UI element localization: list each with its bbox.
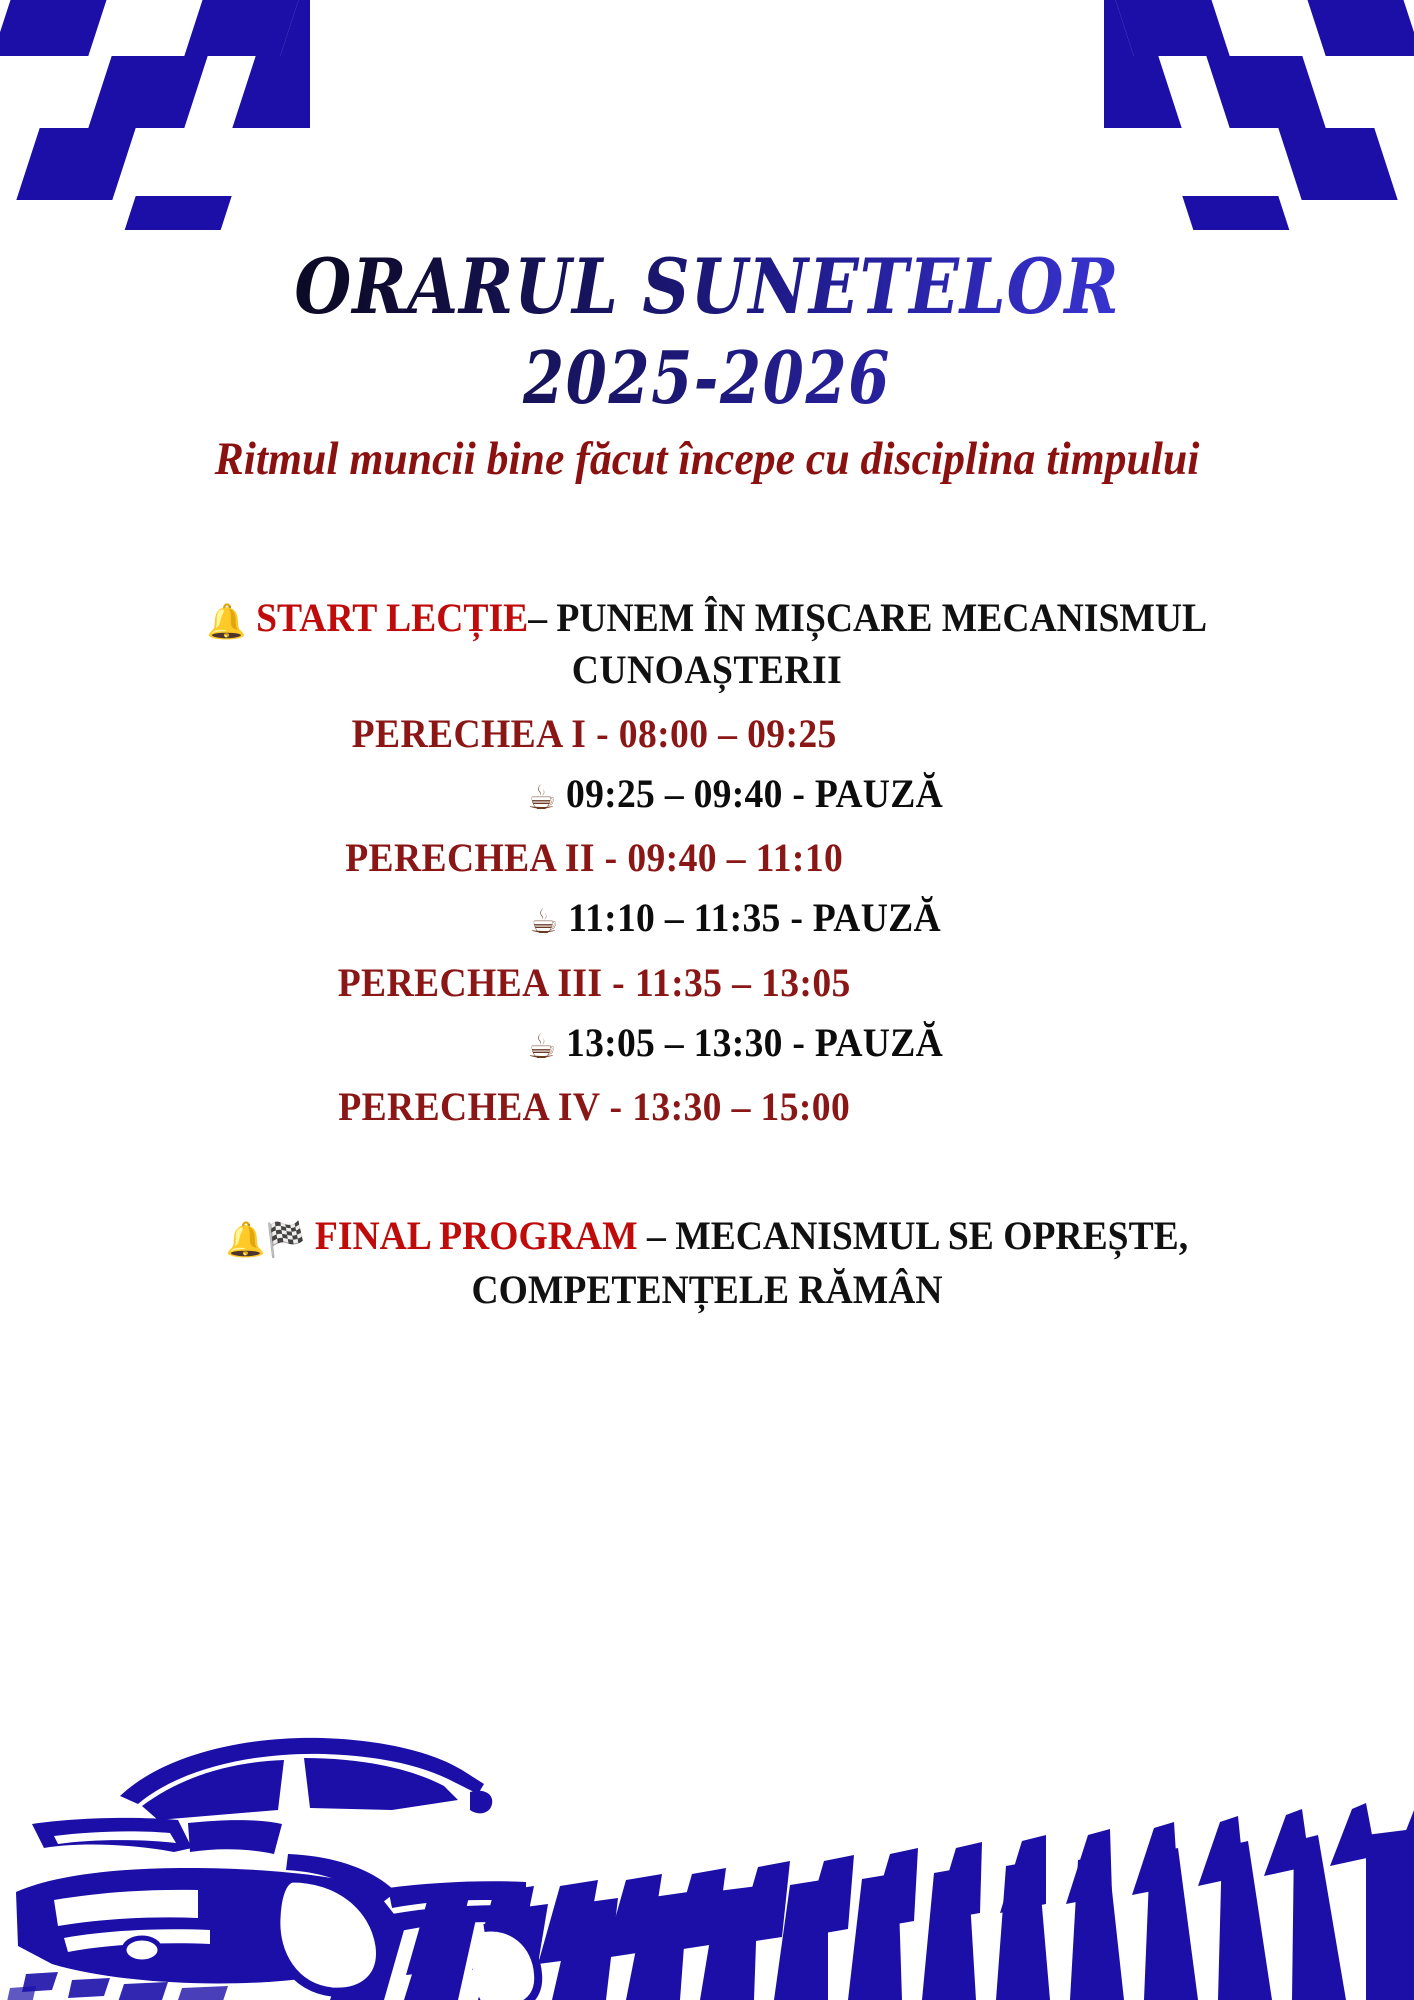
start-lesson-rest: – PUNEM ÎN MIȘCARE MECANISMUL [528, 595, 1207, 640]
start-lesson-second-line: CUNOAȘTERII [42, 644, 1371, 696]
pause-row-1: ☕ 09:25 – 09:40 - PAUZĂ [42, 760, 1371, 820]
flag-square [1104, 56, 1182, 128]
page-title: ORARUL SUNETELOR [99, 248, 1315, 326]
pair-row-2: PERECHEA II - 09:40 – 11:10 [42, 820, 1371, 884]
school-year: 2025-2026 [127, 340, 1286, 416]
flag-square [184, 0, 303, 56]
flag-square [1182, 196, 1301, 230]
pair-label: PERECHEA I [352, 711, 587, 756]
flag-square [1302, 0, 1414, 56]
flag-square [112, 196, 231, 230]
flag-square [1278, 128, 1397, 200]
checkered-flag-top-left [0, 0, 310, 230]
start-lesson-highlight: START LECȚIE [256, 595, 528, 640]
pair-row-3: PERECHEA III - 11:35 – 13:05 [42, 945, 1371, 1009]
final-program-second-line: COMPETENȚELE RĂMÂN [42, 1263, 1371, 1317]
checkered-flag-top-right [1104, 0, 1414, 230]
flag-square [88, 56, 207, 128]
pair-separator: - [612, 960, 625, 1005]
coffee-cup-icon: ☕ [527, 776, 556, 820]
flag-square [0, 0, 112, 56]
flag-square [232, 56, 310, 128]
flag-square [1104, 0, 1134, 56]
pair-label: PERECHEA III [338, 960, 603, 1005]
start-lesson-line: 🔔 START LECȚIE– PUNEM ÎN MIȘCARE MECANIS… [42, 580, 1371, 696]
poster-header: ORARUL SUNETELOR 2025-2026 [0, 248, 1414, 415]
pair-time: 11:35 – 13:05 [635, 960, 851, 1005]
final-program-line: 🔔🏁 FINAL PROGRAM – MECANISMUL SE OPREȘTE… [42, 1133, 1371, 1317]
flag-square [280, 0, 310, 56]
bell-icon: 🔔 [207, 600, 247, 644]
flag-square [1110, 0, 1229, 56]
final-program-rest: – MECANISMUL SE OPREȘTE, [647, 1213, 1188, 1258]
pause-row-2: ☕ 11:10 – 11:35 - PAUZĂ [42, 884, 1371, 944]
pair-separator: - [596, 711, 609, 756]
pair-time: 13:30 – 15:00 [632, 1084, 850, 1129]
coffee-cup-icon: ☕ [529, 900, 558, 944]
pause-text: 09:25 – 09:40 - PAUZĂ [566, 771, 943, 816]
pair-row-4: PERECHEA IV - 13:30 – 15:00 [42, 1069, 1371, 1133]
pair-separator: - [605, 835, 618, 880]
final-program-highlight: FINAL PROGRAM [315, 1213, 638, 1258]
coffee-cup-icon: ☕ [527, 1025, 556, 1069]
pair-label: PERECHEA II [345, 835, 595, 880]
pair-time: 08:00 – 09:25 [619, 711, 837, 756]
bottom-artwork [0, 1670, 1414, 2000]
pair-time: 09:40 – 11:10 [627, 835, 843, 880]
tagline: Ritmul muncii bine făcut începe cu disci… [49, 432, 1364, 486]
schedule-list: 🔔 START LECȚIE– PUNEM ÎN MIȘCARE MECANIS… [0, 580, 1414, 1317]
pair-separator: - [610, 1084, 623, 1129]
pause-text: 11:10 – 11:35 - PAUZĂ [568, 895, 941, 940]
pair-row-1: PERECHEA I - 08:00 – 09:25 [42, 696, 1371, 760]
pause-row-3: ☕ 13:05 – 13:30 - PAUZĂ [42, 1009, 1371, 1069]
bell-icon: 🔔 [226, 1218, 266, 1264]
sports-car-illustration [0, 1678, 552, 2000]
perspective-road-dashes [0, 1670, 1414, 2000]
pair-label: PERECHEA IV [338, 1084, 599, 1129]
flag-square [1206, 56, 1325, 128]
pause-text: 13:05 – 13:30 - PAUZĂ [566, 1020, 943, 1065]
checkered-flag-icon: 🏁 [266, 1218, 306, 1264]
flag-square [16, 128, 135, 200]
